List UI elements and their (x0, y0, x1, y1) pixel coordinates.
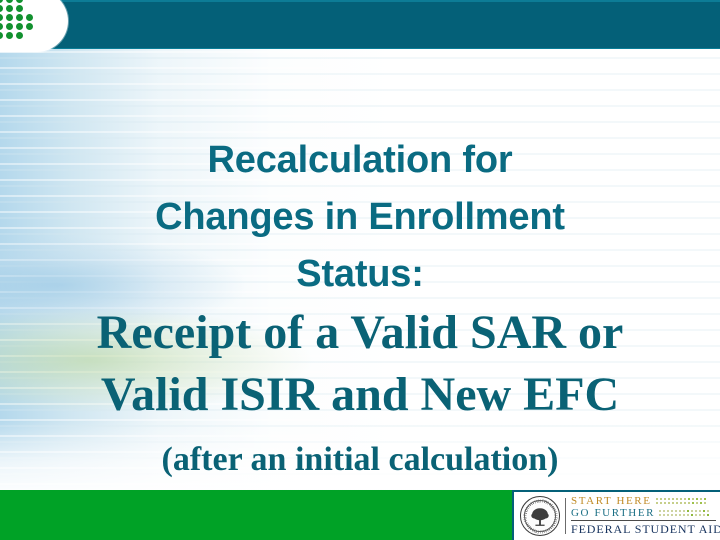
green-dots-lozenge-logo (0, 0, 68, 52)
tagline-row-1: START HERE (571, 495, 716, 507)
header-bar (0, 0, 720, 49)
tagline-start-here: START HERE (571, 495, 652, 507)
headline-line-1: Receipt of a Valid SAR or (0, 302, 720, 364)
title-line-3: Status: (0, 246, 720, 303)
footer-green-band (0, 490, 512, 540)
federal-student-aid-logo: START HERE (512, 490, 720, 540)
tagline-row-2: GO FURTHER (571, 507, 716, 519)
tagline-go-further: GO FURTHER (571, 507, 655, 519)
title-line-1: Recalculation for (0, 132, 720, 189)
dot-grid-icon (0, 0, 44, 36)
tree-emblem-icon (529, 506, 551, 528)
slide-headline: Receipt of a Valid SAR or Valid ISIR and… (0, 302, 720, 426)
logo-horizontal-rule (571, 520, 716, 521)
department-of-education-seal-icon (520, 496, 560, 536)
slide-title: Recalculation for Changes in Enrollment … (0, 132, 720, 303)
org-name-federal-student-aid: FEDERAL STUDENT AID (571, 522, 716, 537)
logo-text-group: START HERE (571, 495, 716, 537)
dot-swatch-icon (655, 497, 711, 506)
title-line-2: Changes in Enrollment (0, 189, 720, 246)
dot-swatch-icon-2 (658, 509, 714, 518)
slide-canvas: Recalculation for Changes in Enrollment … (0, 0, 720, 540)
slide-subnote: (after an initial calculation) (0, 438, 720, 482)
logo-divider (565, 498, 566, 534)
headline-line-2: Valid ISIR and New EFC (0, 364, 720, 426)
